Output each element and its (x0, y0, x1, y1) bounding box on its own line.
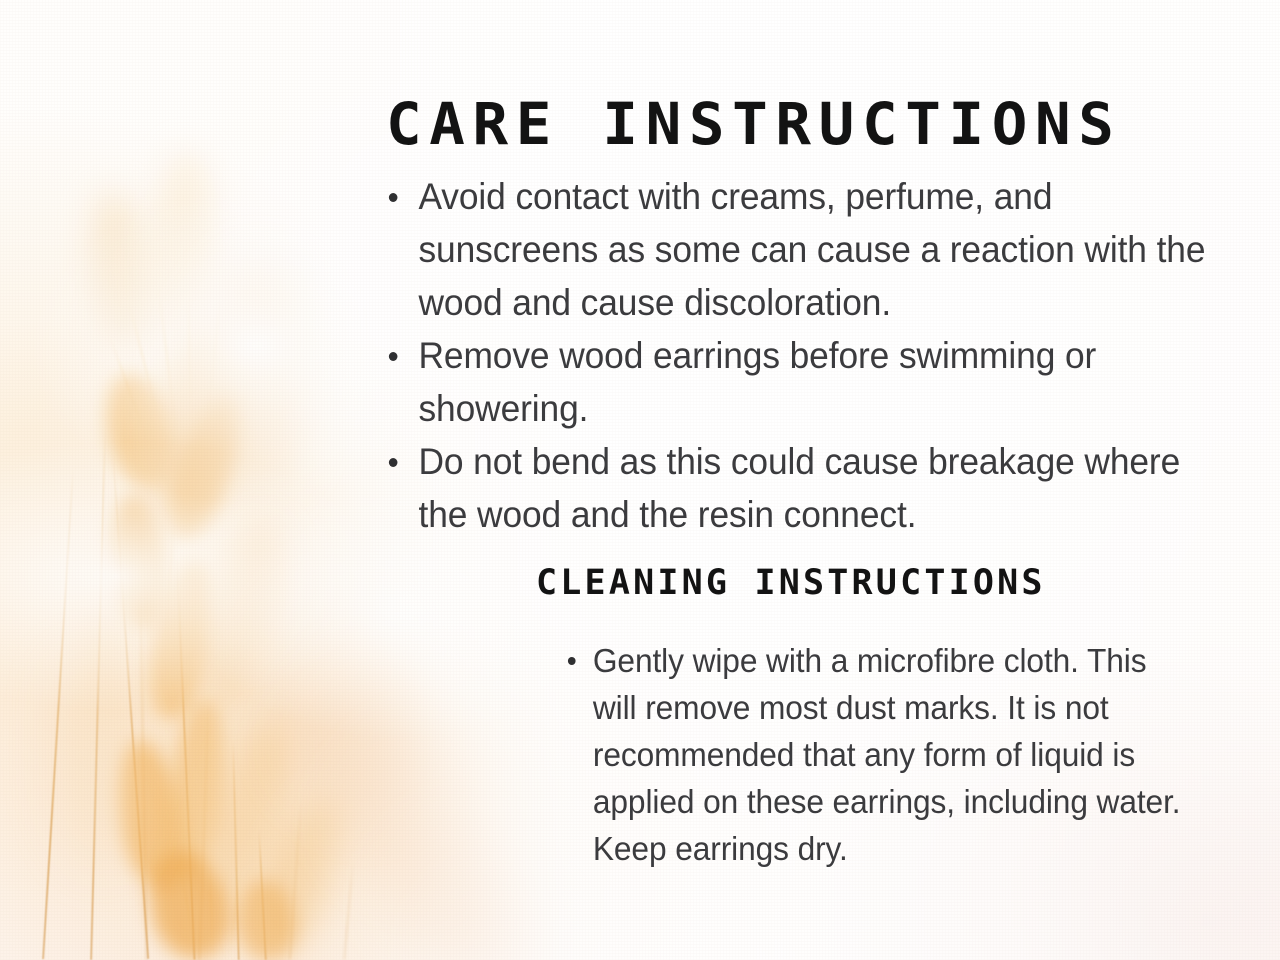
cleaning-instructions-subtitle: CLEANING INSTRUCTIONS (536, 566, 1046, 601)
care-instructions-card: CARE INSTRUCTIONS Avoid contact with cre… (0, 0, 1280, 960)
bullet-dot-icon (389, 193, 398, 202)
list-item-text: Gently wipe with a microfibre cloth. Thi… (593, 642, 1181, 867)
list-item: Do not bend as this could cause breakage… (386, 435, 1226, 541)
bullet-dot-icon (389, 352, 398, 361)
bullet-dot-icon (389, 458, 398, 467)
page-title: CARE INSTRUCTIONS (386, 95, 1122, 153)
list-item: Avoid contact with creams, perfume, and … (386, 170, 1226, 329)
care-instructions-list: Avoid contact with creams, perfume, and … (386, 170, 1266, 541)
list-item-text: Do not bend as this could cause breakage… (418, 441, 1180, 535)
list-item: Gently wipe with a microfibre cloth. Thi… (566, 637, 1190, 872)
bullet-dot-icon (568, 657, 576, 665)
list-item-text: Avoid contact with creams, perfume, and … (418, 176, 1205, 323)
list-item-text: Remove wood earrings before swimming or … (418, 335, 1096, 429)
cleaning-instructions-list: Gently wipe with a microfibre cloth. Thi… (566, 637, 1216, 872)
list-item: Remove wood earrings before swimming or … (386, 329, 1226, 435)
